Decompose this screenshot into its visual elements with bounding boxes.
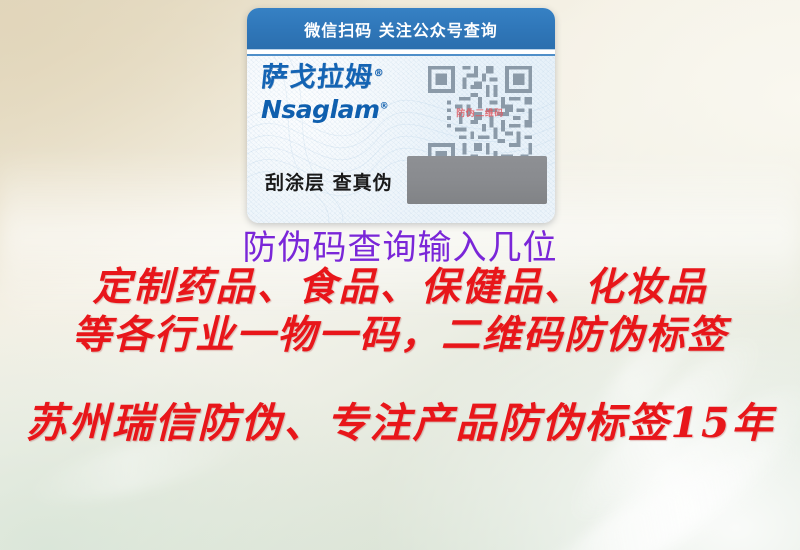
promo-text-block-bottom: 苏州瑞信防伪、专注产品防伪标签15年 — [0, 398, 800, 448]
promo-line-3: 苏州瑞信防伪、专注产品防伪标签15年 — [0, 398, 800, 448]
registered-mark-icon: ® — [373, 68, 384, 79]
purple-question-headline: 防伪码查询输入几位 — [0, 231, 800, 265]
brand-logo: 萨戈拉姆® Nsaglam® — [261, 64, 419, 124]
card-body: 萨戈拉姆® Nsaglam® — [247, 56, 555, 223]
card-header-banner: 微信扫码 关注公众号查询 — [247, 8, 555, 49]
background-wisp — [550, 365, 800, 550]
promo-line-1: 定制药品、食品、保健品、化妆品 — [0, 264, 800, 312]
header-divider — [247, 49, 555, 56]
promo-text-block-top: 定制药品、食品、保健品、化妆品 等各行业一物一码，二维码防伪标签 — [0, 264, 800, 359]
poster-image: 微信扫码 关注公众号查询 萨戈拉姆® Nsaglam® — [0, 0, 800, 550]
card-header-title: 微信扫码 关注公众号查询 — [304, 17, 498, 41]
brand-name-chinese-text: 萨戈拉姆 — [259, 62, 374, 93]
qr-watermark-label: 防伪二维码 — [419, 106, 541, 119]
brand-name-english-text: Nsaglam — [261, 95, 380, 124]
registered-mark-icon: ® — [380, 102, 389, 112]
brand-name-english: Nsaglam® — [261, 95, 419, 124]
anti-counterfeit-label-card: 微信扫码 关注公众号查询 萨戈拉姆® Nsaglam® — [247, 8, 555, 223]
brand-name-chinese: 萨戈拉姆® — [260, 64, 421, 92]
promo-line-2: 等各行业一物一码，二维码防伪标签 — [0, 312, 800, 360]
scratch-instruction-label: 刮涂层 查真伪 — [265, 168, 393, 195]
scratch-off-coating[interactable] — [407, 156, 547, 204]
